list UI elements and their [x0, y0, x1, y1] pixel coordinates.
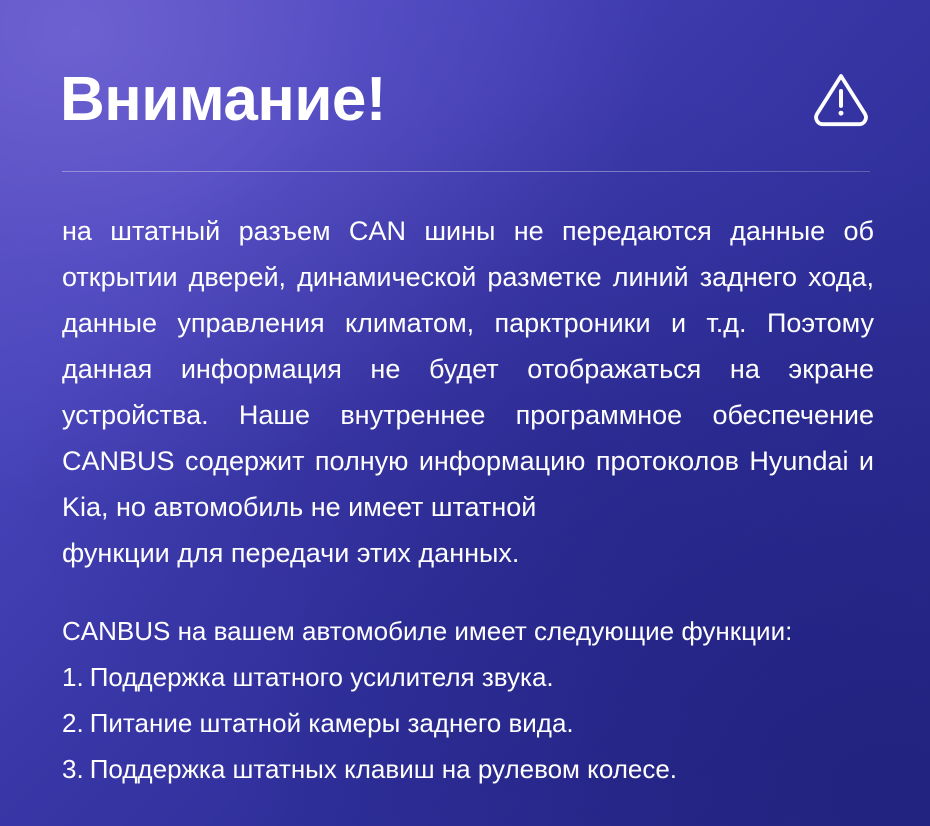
header-divider [62, 171, 870, 172]
notice-paragraph-text: на штатный разъем CAN шины не передаются… [62, 216, 874, 522]
functions-heading: CANBUS на вашем автомобиле имеет следующ… [62, 608, 874, 654]
list-item-number: 2. [62, 708, 84, 738]
list-item-number: 1. [62, 662, 84, 692]
list-item-label: Поддержка штатного усилителя звука. [90, 662, 554, 692]
page-title: Внимание! [60, 69, 386, 131]
list-item-label: Поддержка штатных клавиш на рулевом коле… [90, 754, 677, 784]
warning-triangle-icon [812, 71, 872, 129]
list-item-label: Питание штатной камеры заднего вида. [90, 708, 574, 738]
list-item: 2.Питание штатной камеры заднего вида. [62, 700, 874, 746]
banner-header: Внимание! [60, 52, 872, 148]
banner-content: на штатный разъем CAN шины не передаются… [62, 208, 874, 792]
functions-block: CANBUS на вашем автомобиле имеет следующ… [62, 608, 874, 792]
notice-paragraph: на штатный разъем CAN шины не передаются… [62, 208, 874, 576]
list-item: 1.Поддержка штатного усилителя звука. [62, 654, 874, 700]
warning-banner: Внимание! на штатный разъем CAN шины не … [0, 0, 930, 826]
functions-list: 1.Поддержка штатного усилителя звука. 2.… [62, 654, 874, 792]
list-item: 3.Поддержка штатных клавиш на рулевом ко… [62, 746, 874, 792]
notice-paragraph-lastline: функции для передачи этих данных. [62, 530, 874, 576]
list-item-number: 3. [62, 754, 84, 784]
